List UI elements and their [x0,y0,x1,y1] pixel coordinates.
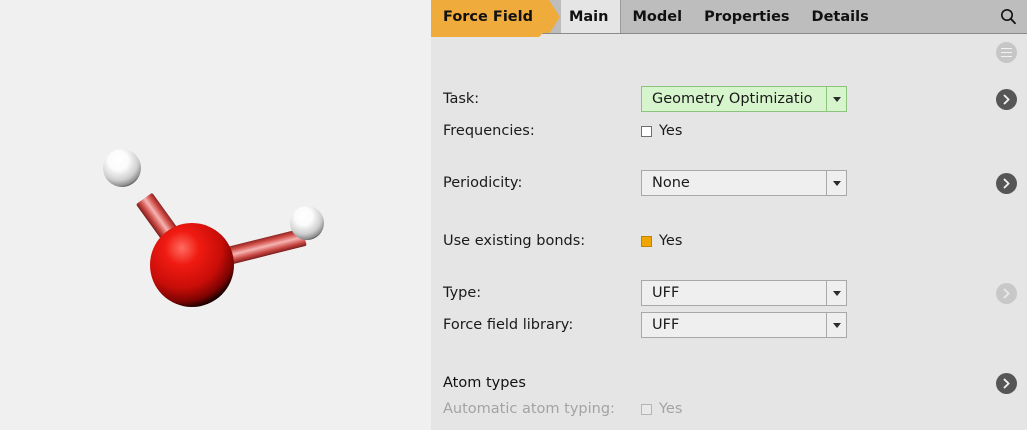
force-field-library-dropdown[interactable]: UFF [641,312,847,338]
task-label: Task: [443,91,479,107]
tab-model-label: Model [632,9,682,25]
tab-model[interactable]: Model [621,0,693,33]
tab-main-label: Main [569,9,609,25]
force-field-settings-panel: Force Field Main Model Properties Detail… [431,0,1027,430]
chevron-down-icon [826,313,846,337]
force-field-library-value: UFF [642,313,826,337]
tab-details-label: Details [812,9,869,25]
type-value: UFF [642,281,826,305]
water-molecule-render [0,0,431,430]
search-icon[interactable] [989,0,1027,33]
checkbox-box [641,126,652,137]
atom-oxygen[interactable] [150,223,234,307]
frequencies-checkbox[interactable]: Yes [641,123,682,139]
atom-hydrogen-1[interactable] [103,149,141,187]
periodicity-value: None [642,171,826,195]
field-row-periodicity: Periodicity: None [431,170,1027,196]
chevron-down-icon [826,171,846,195]
task-value: Geometry Optimizatio [642,87,826,111]
type-dropdown[interactable]: UFF [641,280,847,306]
active-breadcrumb-underline [431,33,539,37]
3d-molecule-viewport[interactable] [0,0,431,430]
force-field-library-label: Force field library: [443,317,573,333]
breadcrumb-label: Force Field [443,9,533,25]
checkbox-box-checked [641,236,652,247]
tab-main[interactable]: Main [561,0,622,33]
chevron-down-icon [826,87,846,111]
field-row-automatic-atom-typing: Automatic atom typing: Yes [431,396,1027,422]
use-existing-bonds-checkbox-label: Yes [659,233,682,249]
tab-properties[interactable]: Properties [693,0,800,33]
section-row-atom-types: Atom types [431,370,1027,396]
periodicity-dropdown[interactable]: None [641,170,847,196]
automatic-atom-typing-checkbox-label: Yes [659,401,682,417]
frequencies-checkbox-label: Yes [659,123,682,139]
use-existing-bonds-checkbox[interactable]: Yes [641,233,682,249]
checkbox-box-disabled [641,404,652,415]
atom-hydrogen-2[interactable] [290,206,324,240]
tab-properties-label: Properties [704,9,789,25]
automatic-atom-typing-checkbox: Yes [641,401,682,417]
use-existing-bonds-label: Use existing bonds: [443,233,585,249]
field-row-type: Type: UFF [431,280,1027,306]
periodicity-detail-button[interactable] [996,173,1017,194]
periodicity-label: Periodicity: [443,175,522,191]
hamburger-menu-icon[interactable] [996,42,1017,63]
tab-bar: Force Field Main Model Properties Detail… [431,0,1027,34]
type-detail-button-disabled [996,283,1017,304]
type-label: Type: [443,285,481,301]
frequencies-label: Frequencies: [443,123,535,139]
atom-types-detail-button[interactable] [996,373,1017,394]
tab-bar-spacer [880,0,989,33]
task-detail-button[interactable] [996,89,1017,110]
field-row-task: Task: Geometry Optimizatio [431,86,1027,112]
tab-details[interactable]: Details [801,0,880,33]
application-window: Force Field Main Model Properties Detail… [0,0,1027,430]
task-dropdown[interactable]: Geometry Optimizatio [641,86,847,112]
field-row-use-existing-bonds: Use existing bonds: Yes [431,228,1027,254]
field-row-force-field-library: Force field library: UFF [431,312,1027,338]
automatic-atom-typing-label: Automatic atom typing: [443,401,615,417]
settings-form: Task: Geometry Optimizatio Frequencies: … [431,34,1027,430]
breadcrumb-force-field[interactable]: Force Field [431,0,549,33]
chevron-down-icon [826,281,846,305]
atom-types-heading: Atom types [443,375,526,391]
field-row-frequencies: Frequencies: Yes [431,118,1027,144]
